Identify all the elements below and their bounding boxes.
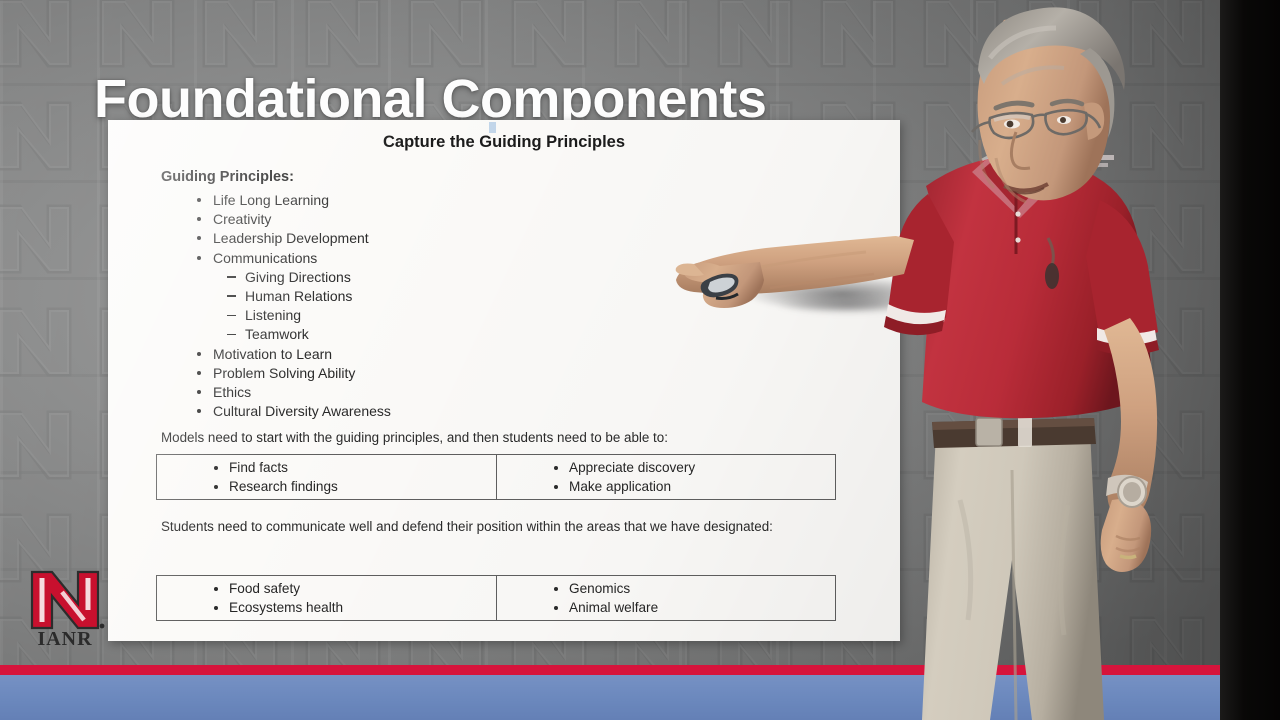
list-item-label: Ethics — [213, 384, 251, 400]
list-item-label: Creativity — [213, 211, 271, 227]
list-item-label: Human Relations — [245, 288, 352, 304]
list-item: Genomics — [549, 579, 658, 598]
table-cell-label: Research findings — [229, 479, 338, 494]
bullet-dot-icon — [197, 390, 201, 394]
bullet-dash-icon — [227, 276, 236, 278]
list-item: Ecosystems health — [209, 598, 343, 617]
list-item: Food safety — [209, 579, 343, 598]
table-cell-label: Food safety — [229, 581, 300, 596]
presenter-figure — [660, 0, 1280, 720]
list-item: Animal welfare — [549, 598, 658, 617]
bullet-dot-icon — [554, 485, 558, 489]
list-item-label: Leadership Development — [213, 230, 369, 246]
bullet-dot-icon — [197, 352, 201, 356]
list-item: Listening — [223, 306, 621, 325]
list-item: Problem Solving Ability — [191, 364, 621, 383]
list-item-label: Life Long Learning — [213, 192, 329, 208]
bullet-dash-icon — [227, 315, 236, 317]
list-item: Creativity — [191, 210, 621, 229]
bullet-dot-icon — [554, 606, 558, 610]
bullet-dash-icon — [227, 295, 236, 297]
list-item: Leadership Development — [191, 229, 621, 248]
table-cell-left: Find facts Research findings — [157, 455, 496, 499]
video-frame: Foundational Components Capture the Guid… — [0, 0, 1280, 720]
bullet-dot-icon — [214, 466, 218, 470]
guiding-principles-list: Life Long Learning Creativity Leadership… — [191, 191, 621, 421]
list-item-label: Cultural Diversity Awareness — [213, 403, 391, 419]
bullet-dot-icon — [214, 587, 218, 591]
list-item-label: Problem Solving Ability — [213, 365, 355, 381]
table-cell-label: Animal welfare — [569, 600, 658, 615]
table-cell-label: Genomics — [569, 581, 630, 596]
bullet-dot-icon — [197, 236, 201, 240]
list-item-label: Giving Directions — [245, 269, 351, 285]
blue-artifact — [489, 122, 496, 133]
list-item-label: Motivation to Learn — [213, 346, 332, 362]
bullet-dot-icon — [197, 256, 201, 260]
bullet-dot-icon — [197, 409, 201, 413]
list-item: Ethics — [191, 383, 621, 402]
bullet-dot-icon — [214, 606, 218, 610]
bullet-dash-icon — [227, 334, 236, 336]
list-item-label: Listening — [245, 307, 301, 323]
bullet-dot-icon — [197, 371, 201, 375]
bullet-dot-icon — [197, 217, 201, 221]
list-item: Find facts — [209, 458, 338, 477]
list-item: Research findings — [209, 477, 338, 496]
table-cell-label: Make application — [569, 479, 671, 494]
list-item-label: Communications — [213, 250, 317, 266]
list-item-label: Teamwork — [245, 326, 309, 342]
table-cell-label: Find facts — [229, 460, 288, 475]
guiding-principles-label: Guiding Principles: — [161, 169, 294, 185]
svg-text:IANR: IANR — [37, 628, 92, 648]
list-item: Life Long Learning — [191, 191, 621, 210]
bullet-dot-icon — [554, 466, 558, 470]
list-item: Teamwork — [223, 325, 621, 344]
list-item: Motivation to Learn — [191, 345, 621, 364]
table-cell-label: Ecosystems health — [229, 600, 343, 615]
unl-ianr-logo: IANR — [22, 566, 108, 648]
table-cell-left: Food safety Ecosystems health — [157, 576, 496, 620]
bullet-dot-icon — [554, 587, 558, 591]
list-item: Communications — [191, 249, 621, 268]
list-item: Giving Directions — [223, 268, 621, 287]
list-item: Human Relations — [223, 287, 621, 306]
list-item: Cultural Diversity Awareness — [191, 402, 621, 421]
bullet-dot-icon — [197, 198, 201, 202]
bullet-dot-icon — [214, 485, 218, 489]
